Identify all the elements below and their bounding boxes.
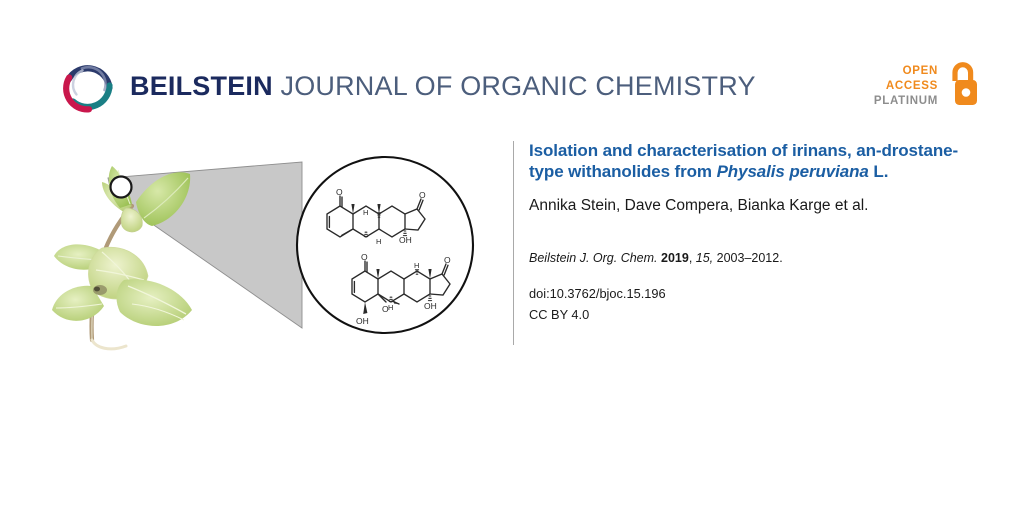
citation-year: 2019 bbox=[661, 251, 689, 265]
masthead: BEILSTEIN JOURNAL OF ORGANIC CHEMISTRY O… bbox=[0, 0, 1024, 136]
graphical-abstract[interactable]: O O H H OH bbox=[40, 140, 490, 370]
article-title-part2: L. bbox=[869, 162, 889, 181]
label-ketone-o-3: O bbox=[361, 252, 368, 262]
article-title-species: Physalis peruviana bbox=[717, 162, 869, 181]
label-oh-1: OH bbox=[399, 235, 412, 245]
label-ketone-o-1: O bbox=[336, 187, 343, 197]
label-epoxide-o: O bbox=[382, 304, 389, 314]
label-oh-2: OH bbox=[424, 301, 437, 311]
graphical-abstract-svg: O O H H OH bbox=[40, 140, 490, 370]
citation-pages: 2003–2012. bbox=[717, 251, 783, 265]
article-title[interactable]: Isolation and characterisation of irinan… bbox=[529, 141, 961, 182]
label-oh-3: OH bbox=[356, 316, 369, 326]
citation-journal: Beilstein J. Org. Chem. bbox=[529, 251, 658, 265]
open-padlock-icon-svg bbox=[944, 60, 980, 108]
label-ketone-o-2: O bbox=[419, 190, 426, 200]
article-citation: Beilstein J. Org. Chem. 2019, 15, 2003–2… bbox=[529, 250, 999, 267]
open-access-line-open: OPEN bbox=[874, 64, 938, 79]
label-h-3: H bbox=[414, 261, 419, 270]
citation-volume: 15, bbox=[696, 251, 713, 265]
open-access-labels: OPEN ACCESS PLATINUM bbox=[874, 64, 938, 109]
open-padlock-icon bbox=[944, 60, 980, 113]
magnifier-circle[interactable]: O O H H OH bbox=[297, 157, 473, 333]
beilstein-spiral-logo[interactable] bbox=[56, 54, 120, 118]
article-info-panel: Isolation and characterisation of irinan… bbox=[513, 141, 999, 345]
open-access-badge[interactable]: OPEN ACCESS PLATINUM bbox=[874, 58, 980, 114]
journal-wordmark-light: JOURNAL OF ORGANIC CHEMISTRY bbox=[273, 71, 756, 101]
label-h-1: H bbox=[363, 208, 368, 217]
open-access-line-access: ACCESS bbox=[874, 79, 938, 94]
open-access-line-platinum: PLATINUM bbox=[874, 94, 938, 109]
article-license[interactable]: CC BY 4.0 bbox=[529, 305, 999, 324]
magnifier-origin-circle[interactable] bbox=[111, 177, 132, 198]
label-ketone-o-4: O bbox=[444, 255, 451, 265]
article-authors[interactable]: Annika Stein, Dave Compera, Bianka Karge… bbox=[529, 196, 999, 216]
label-h-2: H bbox=[376, 237, 381, 246]
article-doi[interactable]: doi:10.3762/bjoc.15.196 bbox=[529, 284, 999, 303]
journal-wordmark: BEILSTEIN JOURNAL OF ORGANIC CHEMISTRY bbox=[130, 70, 756, 102]
label-h-4: H bbox=[388, 303, 393, 312]
beilstein-spiral-logo-svg bbox=[56, 54, 120, 118]
journal-wordmark-bold: BEILSTEIN bbox=[130, 71, 273, 101]
